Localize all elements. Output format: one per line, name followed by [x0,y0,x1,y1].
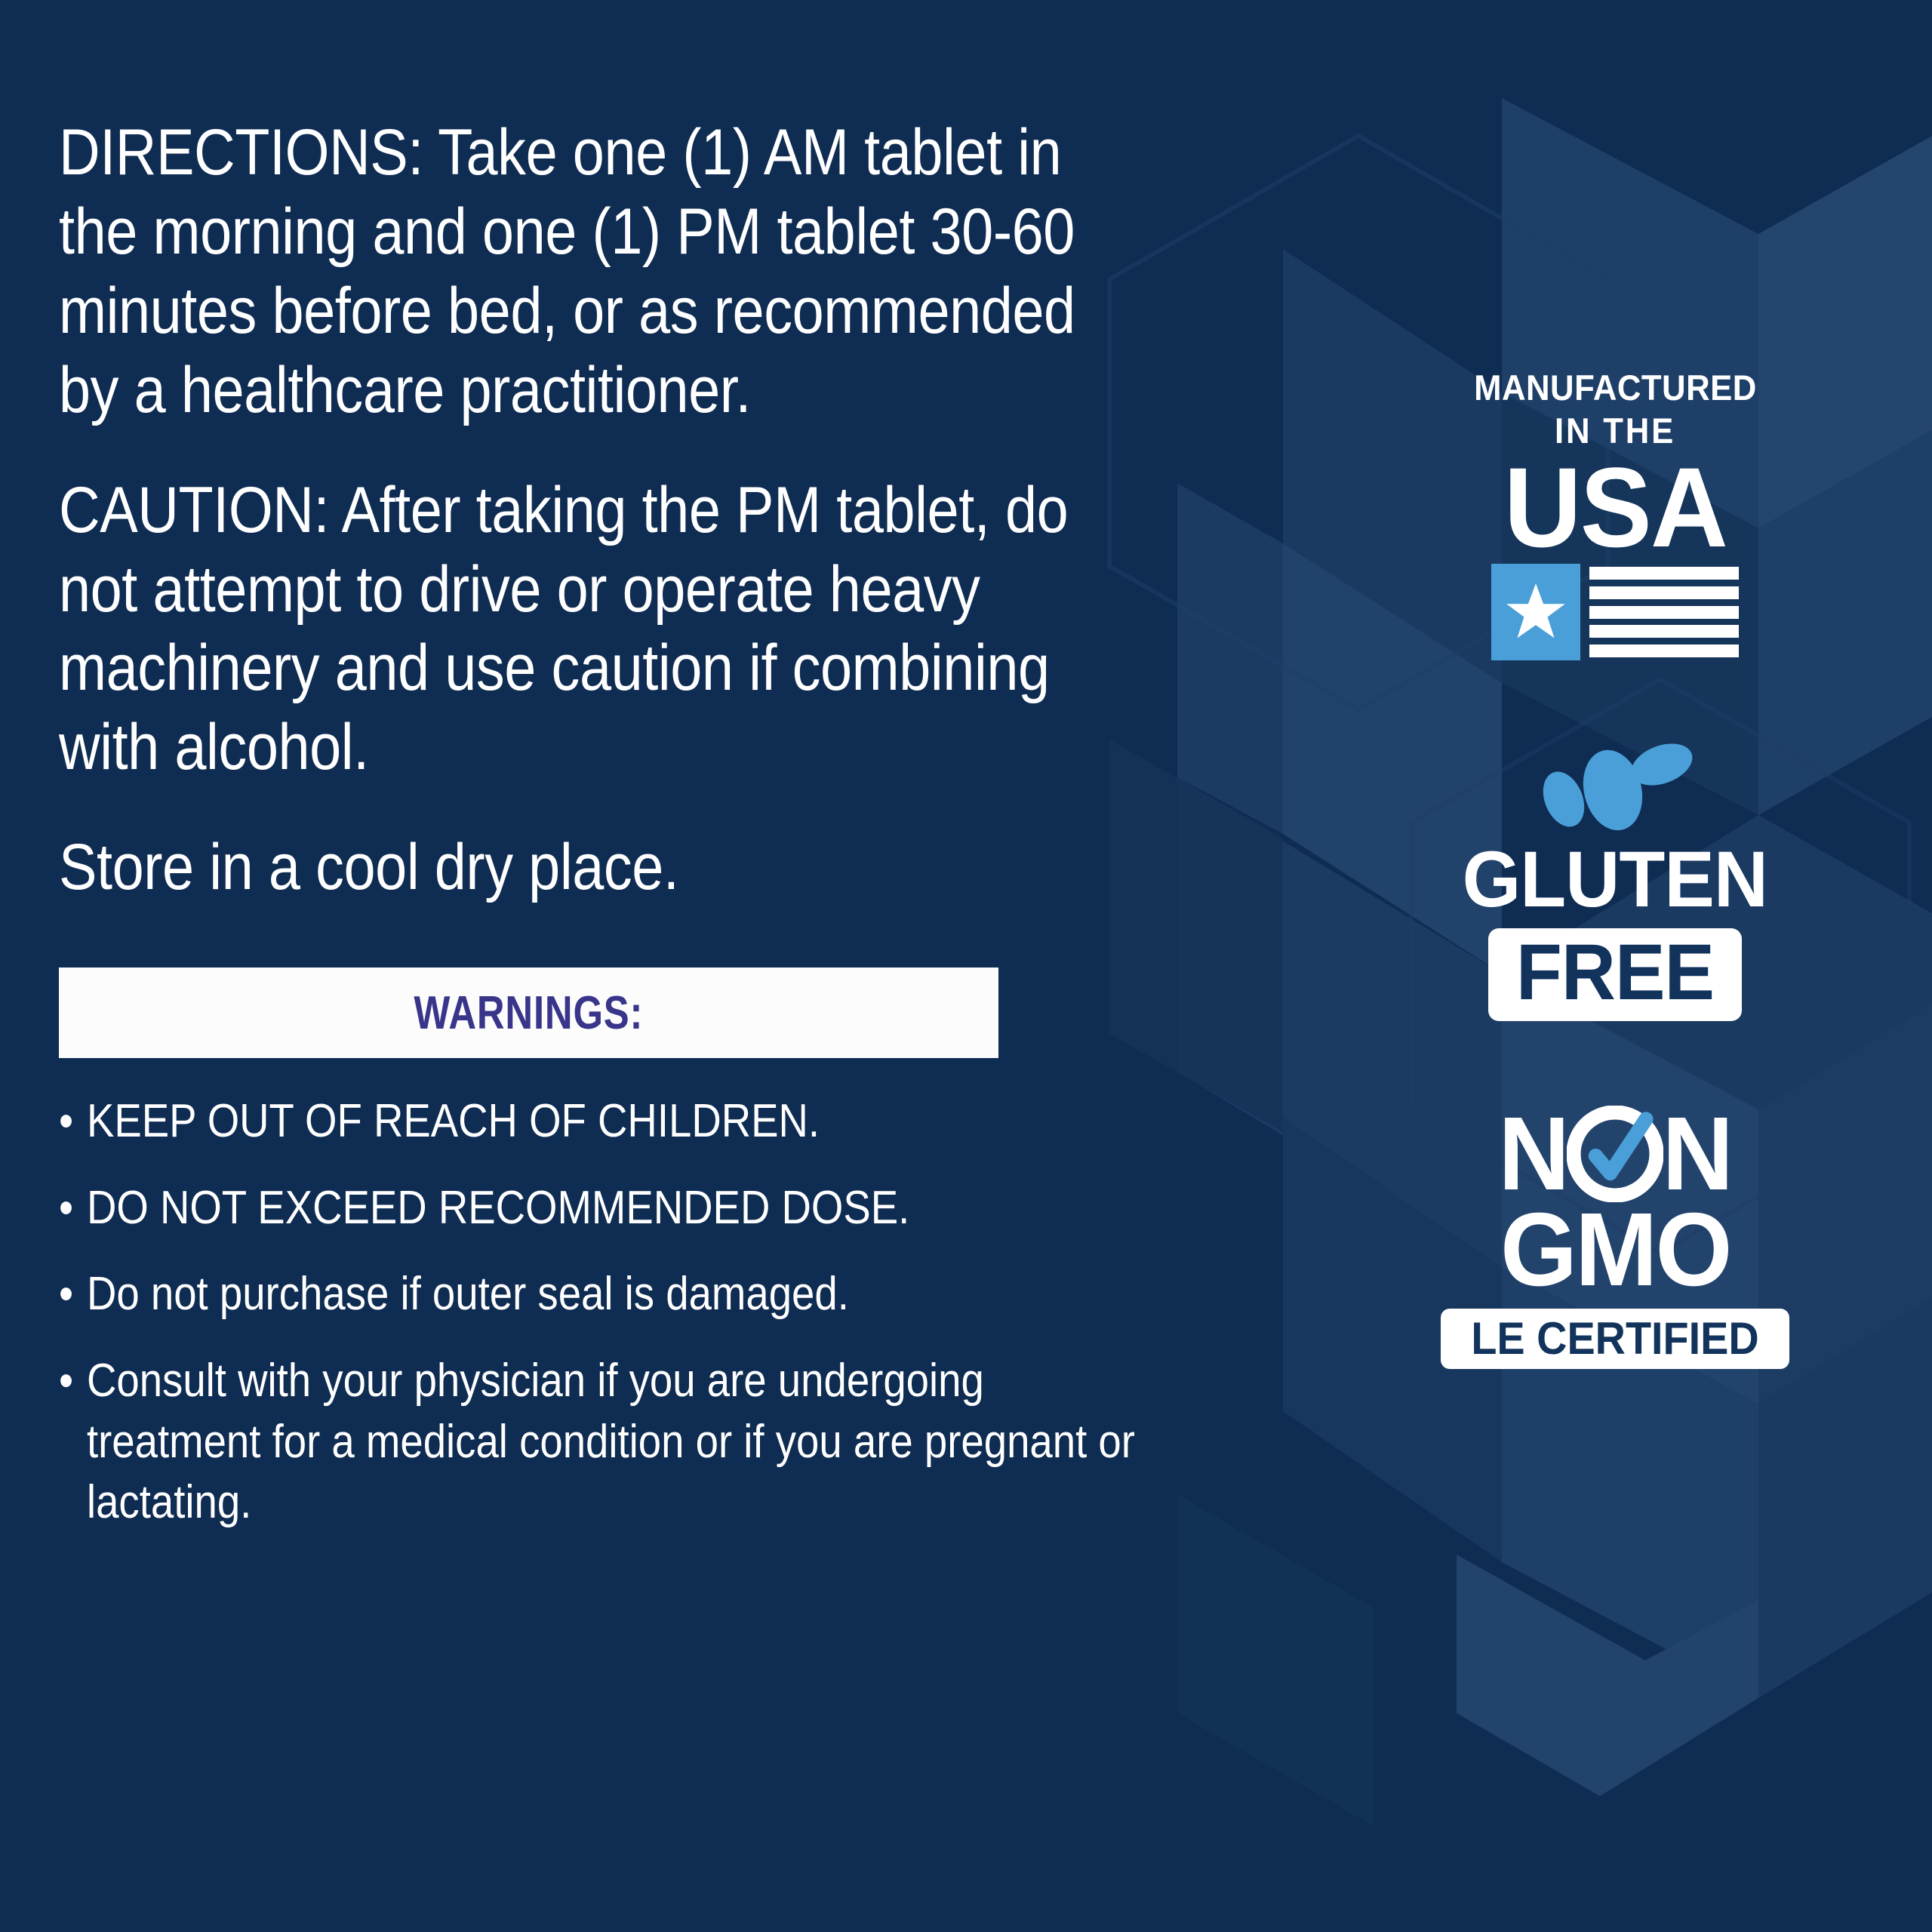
warning-item-physician: • Consult with your physician if you are… [59,1351,1148,1534]
check-circle-icon [1567,1106,1663,1202]
badge-column: MANUFACTURED IN THE USA [1298,0,1932,1369]
warning-item-text: DO NOT EXCEED RECOMMENDED DOSE. [87,1178,1148,1239]
warning-item-text: Do not purchase if outer seal is damaged… [87,1264,1148,1325]
label-panel: DIRECTIONS: Take one (1) AM tablet in th… [0,0,1932,1932]
warning-item-dose: • DO NOT EXCEED RECOMMENDED DOSE. [59,1178,1148,1239]
non-wordmark: N N [1497,1104,1733,1204]
bullet-icon: • [59,1351,87,1412]
flag-stripe [1589,645,1739,657]
certification-box: LE CERTIFIED [1441,1309,1789,1369]
free-label: FREE [1516,933,1714,1012]
non-letter-n-left: N [1499,1104,1568,1204]
text-column: DIRECTIONS: Take one (1) AM tablet in th… [0,0,1298,1559]
bullet-icon: • [59,1264,87,1325]
usa-wordmark: USA [1503,454,1726,561]
flag-canton [1491,564,1580,660]
warning-item-seal: • Do not purchase if outer seal is damag… [59,1264,1148,1325]
warnings-banner: WARNINGS: [59,968,998,1058]
caution-paragraph: CAUTION: After taking the PM tablet, do … [59,471,1148,788]
flag-stripe [1589,606,1739,619]
warning-item-children: • KEEP OUT OF REACH OF CHILDREN. [59,1091,1148,1152]
non-letter-n-right: N [1662,1104,1731,1204]
bullet-icon: • [59,1091,87,1152]
warnings-list: • KEEP OUT OF REACH OF CHILDREN. • DO NO… [59,1091,1297,1534]
checkmark-in-o-icon [1567,1106,1663,1202]
flag-stripes [1589,564,1739,660]
storage-paragraph: Store in a cool dry place. [59,828,1148,907]
le-certified-label: LE CERTIFIED [1471,1316,1758,1361]
non-gmo-badge: N N GMO LE CERTIFIED [1441,1104,1789,1369]
star-icon [1503,580,1568,645]
warnings-heading: WARNINGS: [414,986,644,1040]
gluten-label: GLUTEN [1463,840,1767,919]
gluten-free-badge: GLUTEN FREE [1454,743,1776,1021]
warning-item-text: KEEP OUT OF REACH OF CHILDREN. [87,1091,1148,1152]
flag-stripe [1589,586,1739,599]
flag-stripe [1589,625,1739,638]
gmo-label: GMO [1500,1200,1730,1300]
free-box: FREE [1488,928,1742,1021]
bullet-icon: • [59,1178,87,1239]
manufactured-label: MANUFACTURED [1474,370,1757,405]
warning-item-text: Consult with your physician if you are u… [87,1351,1148,1534]
directions-paragraph: DIRECTIONS: Take one (1) AM tablet in th… [59,113,1148,430]
leaves-icon [1532,743,1698,832]
manufactured-in-usa-badge: MANUFACTURED IN THE USA [1463,370,1767,660]
usa-flag-icon [1491,564,1739,660]
